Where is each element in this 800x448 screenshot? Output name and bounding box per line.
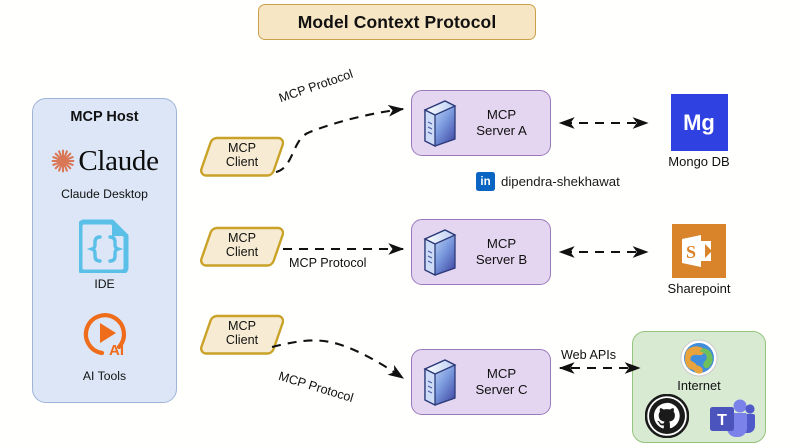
diagram-canvas: Model Context Protocol MCP Host [0,0,800,448]
arrow-client1-to-server-a [276,109,403,172]
connector-arrow-layer [0,0,800,448]
arrow-client3-to-server-c [272,340,403,378]
